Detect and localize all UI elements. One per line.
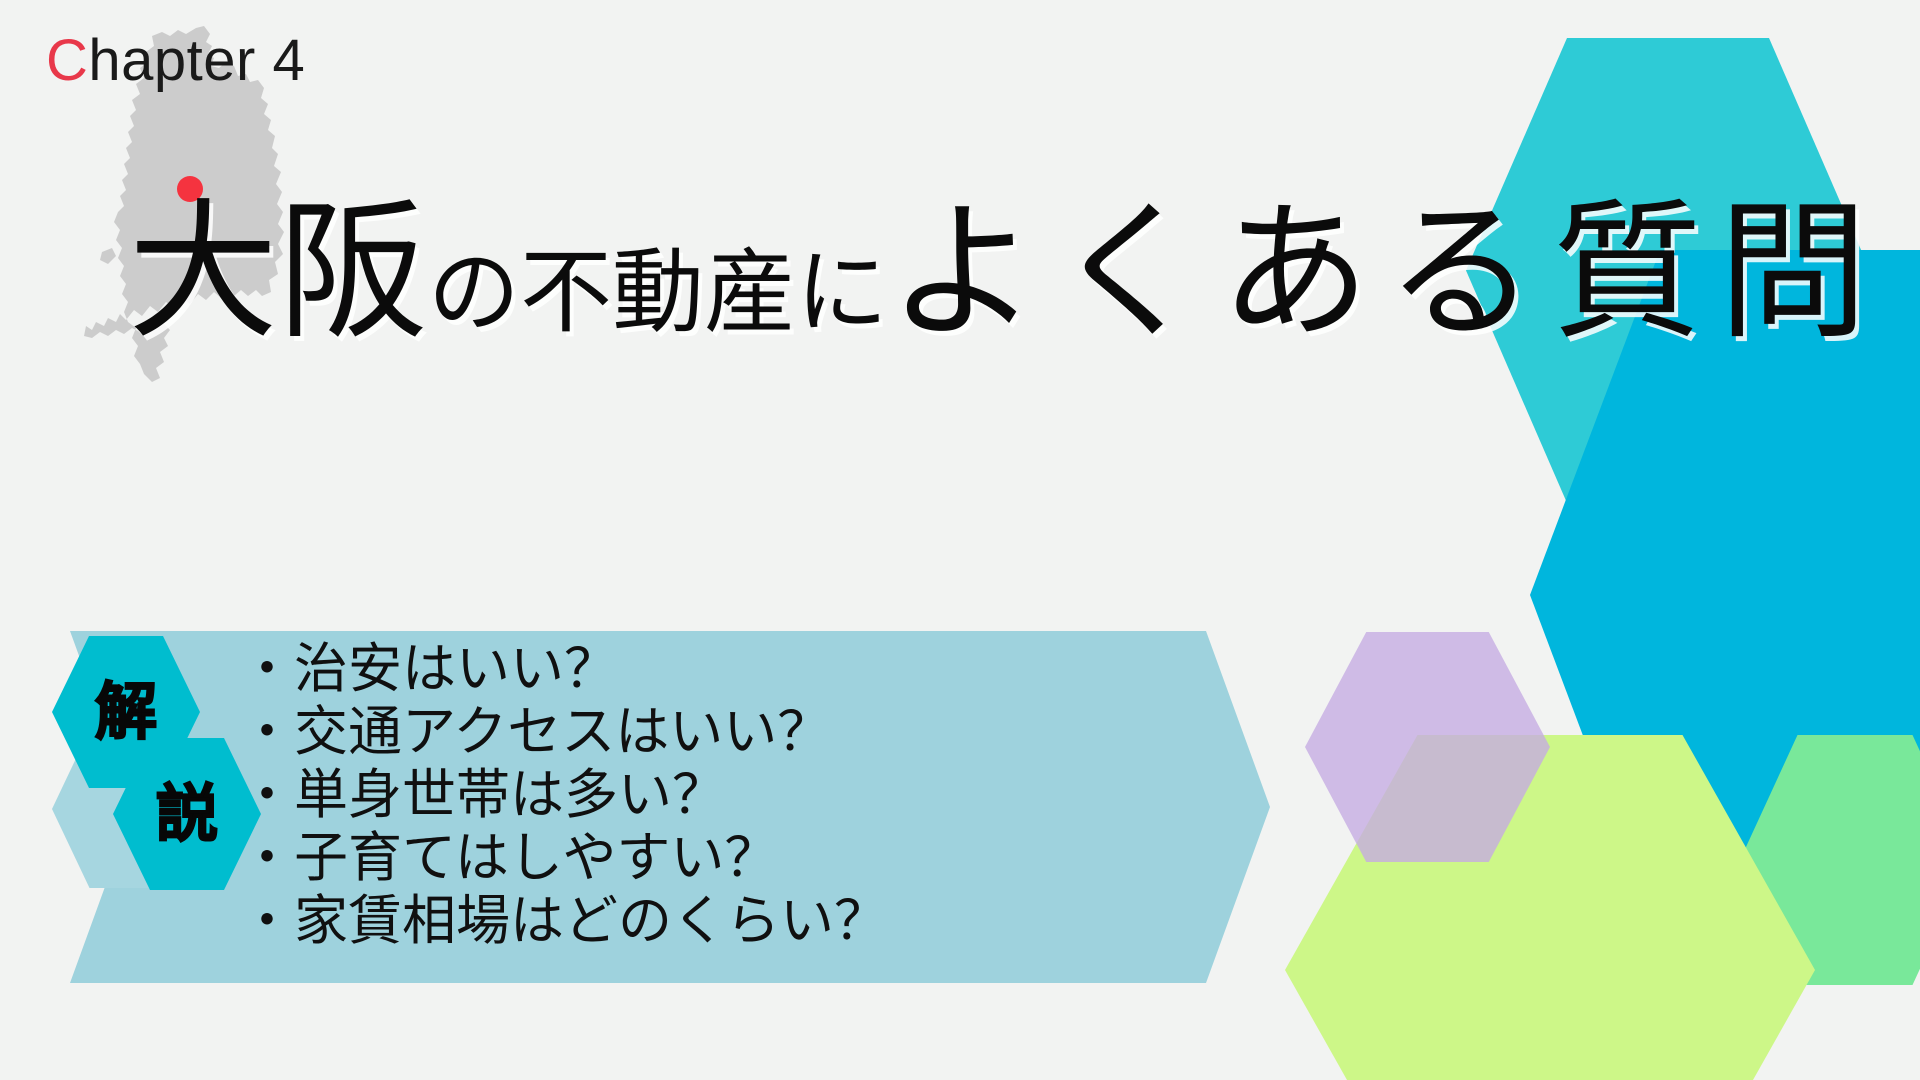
- title-part-no-fudosan-ni: の不動産に: [428, 239, 888, 346]
- list-item: ・子育てはしやすい？: [240, 826, 888, 889]
- badge-kai-label: 解: [95, 681, 157, 743]
- chapter-rest: hapter 4: [88, 28, 305, 93]
- chapter-label: Chapter 4: [46, 32, 305, 90]
- slide-canvas: Chapter 4 大阪の不動産によくある質問 解 説 ・治安はいい？ ・交通ア…: [0, 0, 1920, 1080]
- list-item: ・家賃相場はどのくらい？: [240, 889, 888, 952]
- list-item: ・単身世帯は多い？: [240, 763, 888, 826]
- badge-setsu-label: 説: [156, 783, 218, 845]
- list-item: ・治安はいい？: [240, 637, 888, 700]
- title-part-yokuaru-shitsumon: よくある質問: [888, 186, 1884, 360]
- list-item: ・交通アクセスはいい？: [240, 700, 888, 763]
- chapter-initial: C: [46, 28, 88, 93]
- title-part-osaka: 大阪: [128, 186, 428, 360]
- bullet-list: ・治安はいい？ ・交通アクセスはいい？ ・単身世帯は多い？ ・子育てはしやすい？…: [240, 637, 888, 952]
- page-title: 大阪の不動産によくある質問: [128, 198, 1884, 348]
